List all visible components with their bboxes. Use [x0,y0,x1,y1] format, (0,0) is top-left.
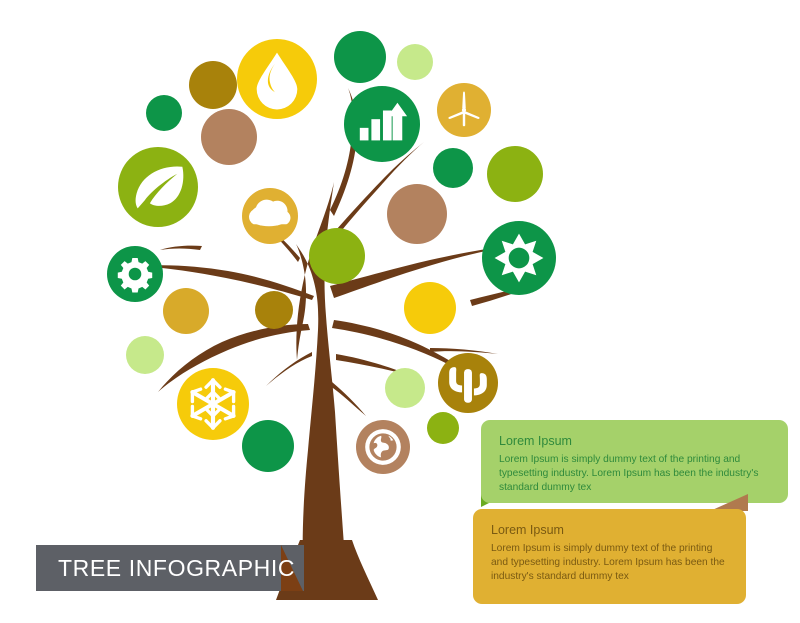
info-card-gold-body: Lorem Ipsum is simply dummy text of the … [491,542,728,584]
circle-water-drop[interactable] [237,39,317,119]
circle-growth-chart-disc [344,86,420,162]
circle-lightgreen-mid-disc [385,368,425,408]
circle-cactus[interactable] [438,353,498,413]
circle-olive-mid-disc [309,228,365,284]
info-card-gold-title: Lorem Ipsum [491,523,728,539]
circle-lightgreen-left-disc [126,336,164,374]
circle-yellow-right-disc [404,282,456,334]
page-title: TREE INFOGRAPHIC [58,545,295,591]
branch-to-gear [160,246,202,250]
circle-green-bottom [242,420,294,472]
circle-sun-disc [482,221,556,295]
circle-lightgreen-top-disc [397,44,433,80]
circle-globe[interactable] [356,420,410,474]
circle-cloud[interactable] [242,188,298,244]
info-card-gold[interactable]: Lorem Ipsum Lorem Ipsum is simply dummy … [473,509,746,604]
circle-gold-left-disc [163,288,209,334]
circle-lightgreen-left [126,336,164,374]
info-card-green-title: Lorem Ipsum [499,434,770,450]
circle-snowflake[interactable] [177,368,249,440]
branch-to-globe [330,382,366,416]
branch-left-upper [140,265,314,300]
circle-gear[interactable] [107,246,163,302]
circle-gear-disc [107,246,163,302]
circle-lightgreen-mid [385,368,425,408]
circle-green-bottom-disc [242,420,294,472]
info-card-green[interactable]: Lorem Ipsum Lorem Ipsum is simply dummy … [481,420,788,503]
circle-darkgold-mid [255,291,293,329]
circle-olive-bottom-disc [427,412,459,444]
circle-green-top-disc [334,31,386,83]
circle-tan-right [387,184,447,244]
branch-far-right [430,348,498,354]
infographic-canvas: $ [0,0,800,623]
circle-gold-left [163,288,209,334]
circle-olive-mid [309,228,365,284]
circle-lightgreen-top [397,44,433,80]
circle-yellow-right [404,282,456,334]
circle-green-tiny-left-disc [146,95,182,131]
circle-leaf-disc [118,147,198,227]
circle-tan-mid-disc [201,109,257,165]
circle-olive-bottom [427,412,459,444]
circle-dollar[interactable] [487,146,543,202]
circle-sun[interactable] [482,221,556,295]
circle-darkgold-mid-disc [255,291,293,329]
circle-green-tiny-left [146,95,182,131]
circle-leaf[interactable] [118,147,198,227]
title-banner: TREE INFOGRAPHIC [36,545,304,591]
circle-windmill[interactable] [437,83,491,137]
circle-green-top [334,31,386,83]
circle-tan-mid [201,109,257,165]
circle-tan-right-disc [387,184,447,244]
circle-brown-small-top-disc [189,61,237,109]
circle-green-small-dollar [433,148,473,188]
circle-dollar-disc [487,146,543,202]
circle-green-small-dollar-disc [433,148,473,188]
branch-left-lower [266,352,312,386]
info-card-green-body: Lorem Ipsum is simply dummy text of the … [499,453,767,495]
circle-growth-chart[interactable] [344,86,420,162]
circle-brown-small-top [189,61,237,109]
